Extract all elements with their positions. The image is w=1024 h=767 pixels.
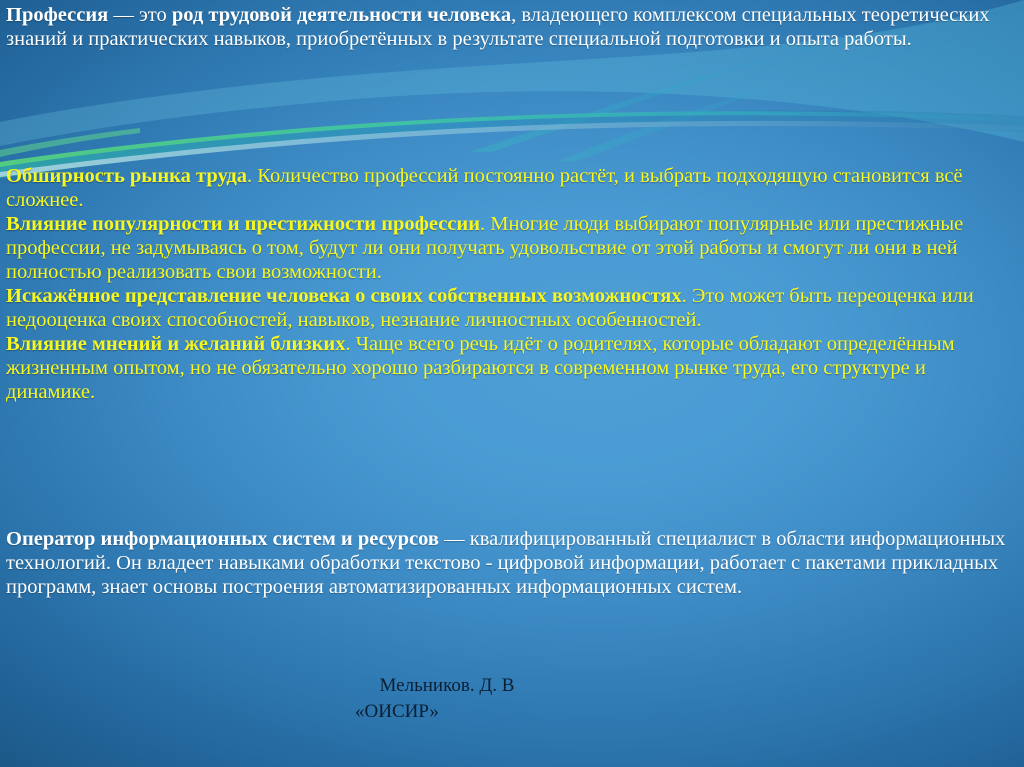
intro-lead-term: Профессия [6,4,108,26]
body-lead-term-1: Обширность рынка труда [6,165,247,187]
body-lead-term-4: Влияние мнений и желаний близких [6,333,345,355]
body-paragraph-2: Влияние популярности и престижности проф… [6,213,1020,285]
operator-lead-term: Оператор информационных систем и ресурсо… [6,528,439,550]
body-paragraph-1: Обширность рынка труда. Количество профе… [6,165,1020,213]
intro-dash: — [108,4,139,26]
signature-author: Мельников. Д. В [0,673,1024,699]
intro-paragraph-block: Профессия — это род трудовой деятельност… [6,4,1020,52]
swoosh-flare-green [0,128,140,157]
intro-plain-1: это [139,4,172,26]
slide-canvas: Профессия — это род трудовой деятельност… [0,0,1024,767]
intro-bold-phrase: род трудовой деятельности человека [172,4,511,26]
body-paragraph-block: Обширность рынка труда. Количество профе… [6,165,1020,405]
body-lead-term-3: Искажённое представление человека о свои… [6,285,682,307]
body-paragraph-3: Искажённое представление человека о свои… [6,285,1020,333]
body-lead-term-2: Влияние популярности и престижности проф… [6,213,480,235]
swoosh-line-green [0,111,1024,167]
intro-paragraph: Профессия — это род трудовой деятельност… [6,4,1020,52]
operator-paragraph: Оператор информационных систем и ресурсо… [6,528,1020,600]
operator-definition-block: Оператор информационных систем и ресурсо… [6,528,1020,600]
signature-block: Мельников. Д. В «ОИСИР» [0,673,1024,725]
signature-organization: «ОИСИР» [0,699,1024,725]
body-paragraph-4: Влияние мнений и желаний близких. Чаще в… [6,333,1020,405]
